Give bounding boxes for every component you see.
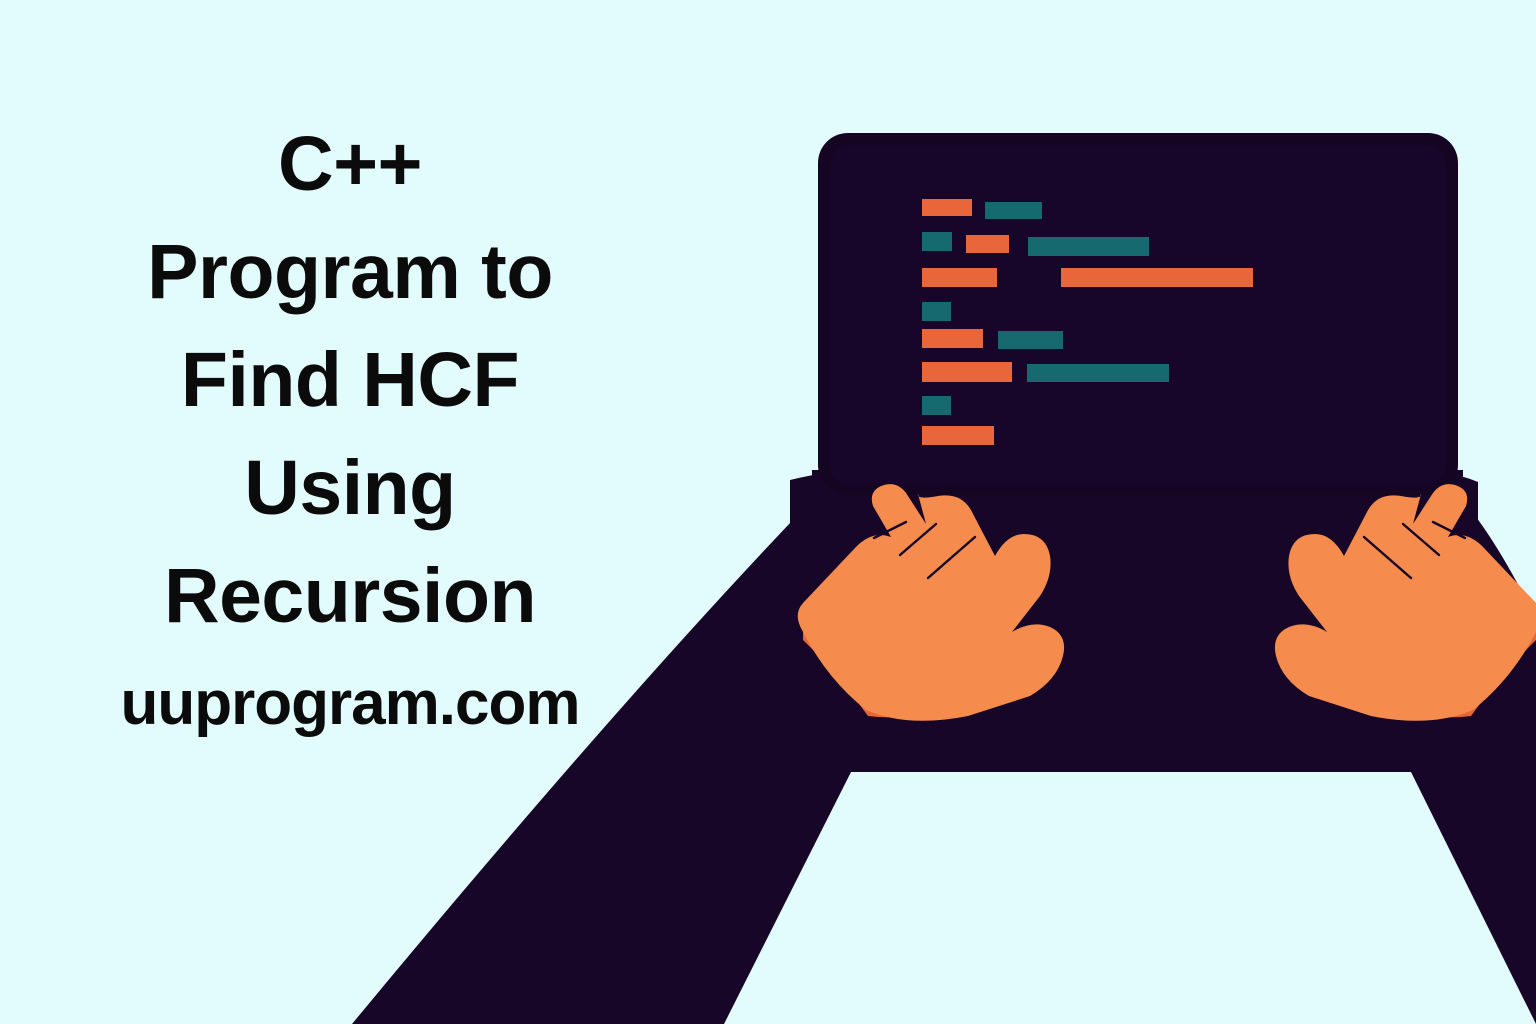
code-token <box>922 426 994 445</box>
code-token <box>1027 364 1169 382</box>
code-token <box>922 362 1012 382</box>
code-token <box>1061 268 1253 287</box>
desk-negative-space <box>724 772 1536 1024</box>
code-token <box>922 232 952 251</box>
laptop <box>818 133 1458 495</box>
code-token <box>998 331 1063 349</box>
code-token <box>922 329 983 348</box>
code-token <box>985 202 1042 219</box>
code-token <box>922 302 951 321</box>
code-token <box>922 199 972 216</box>
code-token <box>922 268 997 287</box>
code-token <box>966 235 1009 253</box>
code-token <box>1028 237 1149 256</box>
code-token <box>922 396 951 415</box>
poster-canvas: C++ Program to Find HCF Using Recursion … <box>0 0 1536 1024</box>
laptop-typing-illustration <box>0 0 1536 1024</box>
